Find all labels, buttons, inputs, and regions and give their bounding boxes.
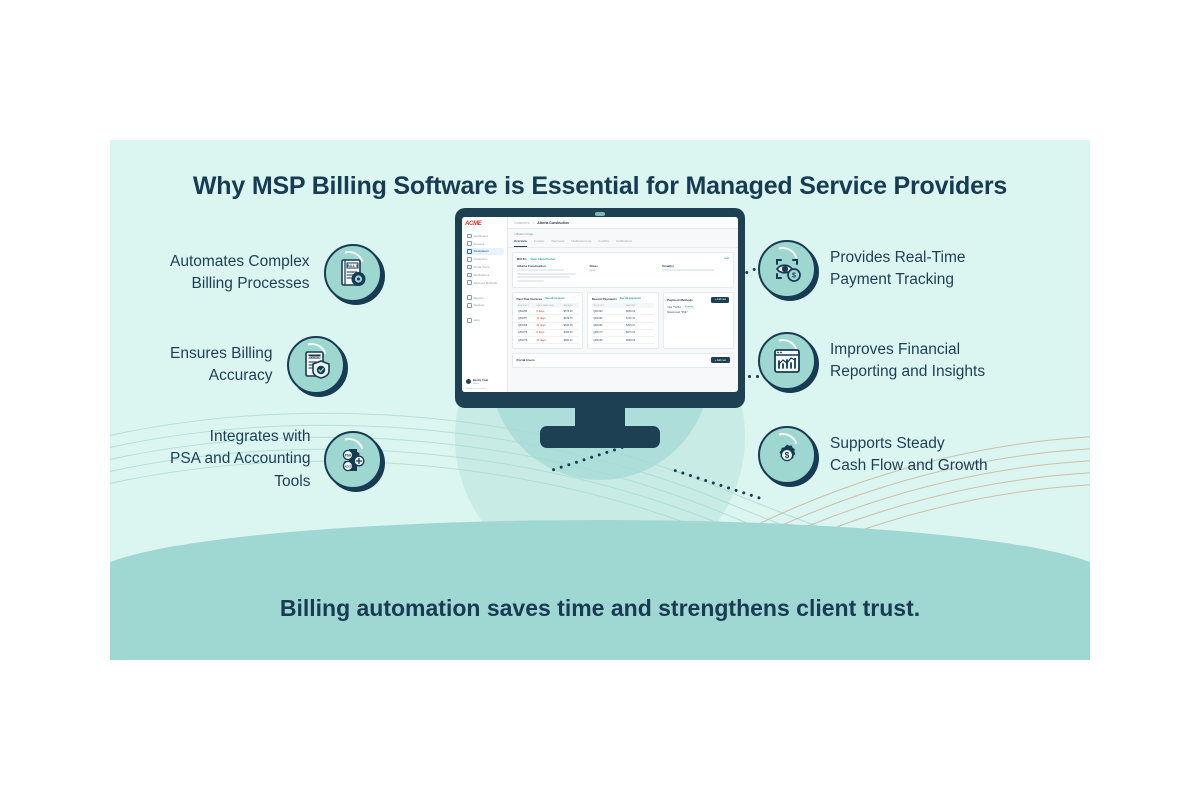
svg-text:ACCT: ACCT bbox=[345, 464, 353, 468]
past-due-table: INVOICE # DAYS PAST DUE AMOUNT QB10956 d… bbox=[517, 303, 579, 344]
sidebar-item-label: Help bbox=[474, 318, 480, 322]
svg-text:PSA: PSA bbox=[345, 453, 352, 457]
sidebar-item-label: Reports bbox=[474, 296, 484, 300]
cell-invoice: QB1082 bbox=[592, 315, 625, 322]
svg-text:INVOICE: INVOICE bbox=[308, 355, 320, 359]
billto-header: Bill To: View Client Portal Edit bbox=[517, 257, 729, 261]
sidebar-spacer bbox=[465, 309, 504, 316]
cell-amount: $345.67 bbox=[625, 322, 655, 329]
customers-icon bbox=[467, 249, 472, 254]
feature-integrates-psa-accounting[interactable]: Integrates with PSA and Accounting Tools… bbox=[170, 426, 382, 493]
table-row[interactable]: QB106822 days$540.15 bbox=[517, 322, 579, 329]
acme-logo: ACME bbox=[465, 221, 504, 227]
cell-days: 17 days bbox=[535, 336, 562, 343]
payment-method-row[interactable]: Visa **2234 Primary bbox=[667, 306, 729, 309]
cell-invoice: QB1079 bbox=[517, 329, 536, 336]
sidebar-nav: Dashboard Invoices Customers Customers P… bbox=[465, 232, 504, 324]
cell-days: 14 days bbox=[535, 315, 562, 322]
avatar bbox=[466, 379, 471, 384]
feature-financial-reporting-insights[interactable]: Improves Financial Reporting and Insight… bbox=[758, 332, 985, 390]
add-payment-method-button[interactable]: + Add new bbox=[711, 297, 729, 303]
tab-overview[interactable]: Overview bbox=[514, 239, 527, 247]
cell-invoice: QB1093 bbox=[592, 308, 625, 315]
page-title: Why MSP Billing Software is Essential fo… bbox=[110, 172, 1090, 201]
feature-steady-cash-flow-growth[interactable]: $ Supports Steady Cash Flow and Growth bbox=[758, 426, 988, 484]
svg-text:BILL $: BILL $ bbox=[347, 264, 358, 268]
see-all-invoices-link[interactable]: See all invoices bbox=[545, 297, 564, 300]
table-row[interactable]: QB1082$730.40 bbox=[592, 315, 654, 322]
cell-amount: $395.60 bbox=[562, 329, 579, 336]
billto-columns: Alberta Construction Notes None bbox=[517, 264, 729, 284]
cell-amount: $860.12 bbox=[562, 336, 579, 343]
feature-automates-complex-billing[interactable]: Automates Complex Billing Processes BILL… bbox=[170, 244, 382, 302]
cell-invoice: QB1086 bbox=[592, 322, 625, 329]
app-sidebar: ACME Dashboard Invoices Customers Custom… bbox=[462, 217, 508, 392]
feature-label: Provides Real-Time Payment Tracking bbox=[830, 247, 966, 292]
feature-label: Improves Financial Reporting and Insight… bbox=[830, 339, 985, 384]
notes-value: None bbox=[590, 269, 657, 272]
table-row[interactable]: QB1093$650.00 bbox=[592, 308, 654, 315]
recent-payments-panel: Recent Payments See all payments INVOICE… bbox=[587, 292, 658, 348]
address-placeholder bbox=[517, 276, 570, 278]
cell-amount: $578.00 bbox=[562, 308, 579, 315]
monitor-base bbox=[540, 426, 660, 448]
card-label: Visa **2234 bbox=[667, 306, 681, 309]
tagline: Billing automation saves time and streng… bbox=[110, 595, 1090, 622]
table-row[interactable]: QB1065$548.00 bbox=[592, 336, 654, 343]
portal-users-title: Portal Users bbox=[517, 358, 535, 362]
sidebar-item-reports[interactable]: Reports bbox=[465, 294, 504, 302]
feature-label: Integrates with PSA and Accounting Tools bbox=[170, 426, 310, 493]
invoice-shield-check-icon: INVOICE bbox=[287, 336, 345, 394]
sidebar-item-label: Portal Users bbox=[474, 265, 490, 269]
sidebar-item-label: Customers bbox=[474, 249, 489, 253]
sidebar-item-label: Payment Methods bbox=[474, 281, 497, 285]
help-icon bbox=[467, 318, 472, 323]
cell-days: 6 days bbox=[535, 308, 562, 315]
sidebar-spacer bbox=[465, 286, 504, 293]
sidebar-item-label: Invoices bbox=[474, 242, 485, 246]
sidebar-item-customers-group[interactable]: Customers bbox=[465, 248, 504, 256]
sidebar-user[interactable]: Becky Club admin bbox=[466, 378, 488, 385]
sidebar-item-invoices[interactable]: Invoices bbox=[465, 240, 504, 248]
tab-payments[interactable]: Payments bbox=[551, 239, 564, 247]
edit-button[interactable]: Edit bbox=[724, 257, 729, 260]
address-placeholder bbox=[517, 280, 544, 282]
feature-label: Supports Steady Cash Flow and Growth bbox=[830, 433, 988, 478]
table-row[interactable]: QB105714 days$439.75 bbox=[517, 315, 579, 322]
table-row[interactable]: QB10956 days$578.00 bbox=[517, 308, 579, 315]
panel-title: Past Due Invoices bbox=[517, 297, 543, 301]
view-client-portal-link[interactable]: View Client Portal bbox=[530, 257, 554, 261]
billto-card: Bill To: View Client Portal Edit Alberta… bbox=[512, 252, 734, 289]
bottom-banner-shape bbox=[110, 520, 1090, 660]
panel-row: Past Due Invoices See all invoices INVOI… bbox=[512, 292, 734, 348]
cell-invoice: QB1057 bbox=[517, 315, 536, 322]
feature-ensures-billing-accuracy[interactable]: Ensures Billing Accuracy INVOICE bbox=[170, 336, 345, 394]
cell-days: 8 days bbox=[535, 329, 562, 336]
billto-emails-col: Email(s) bbox=[662, 264, 729, 284]
reports-icon bbox=[467, 295, 472, 300]
cell-days: 22 days bbox=[535, 322, 562, 329]
sidebar-item-dashboard[interactable]: Dashboard bbox=[465, 232, 504, 240]
sidebar-item-payment-methods[interactable]: Payment Methods bbox=[465, 279, 504, 287]
billto-notes-col: Notes None bbox=[590, 264, 657, 284]
tab-bar: Overview Invoices Payments Notification … bbox=[508, 236, 738, 248]
cell-amount: $548.00 bbox=[625, 336, 655, 343]
billto-heading: Bill To: bbox=[517, 257, 527, 261]
bill-document-gear-icon: BILL $ bbox=[324, 244, 382, 302]
payment-method-row[interactable]: Mastercard *4567 bbox=[667, 311, 729, 314]
user-role: admin bbox=[473, 383, 479, 385]
table-row[interactable]: QB1086$345.67 bbox=[592, 322, 654, 329]
tab-notifications[interactable]: Notifications bbox=[616, 239, 632, 247]
infographic-canvas: Why MSP Billing Software is Essential fo… bbox=[110, 140, 1090, 660]
panel-header: Recent Payments See all payments bbox=[592, 297, 654, 301]
sidebar-item-help[interactable]: Help bbox=[465, 316, 504, 324]
svg-text:$: $ bbox=[792, 272, 796, 279]
add-portal-user-button[interactable]: + Add new bbox=[711, 357, 729, 363]
payment-methods-panel: Payment Methods + Add new Visa **2234 Pr… bbox=[663, 292, 734, 348]
breadcrumb-current: Alberta Construction bbox=[537, 221, 569, 225]
users-icon bbox=[467, 265, 472, 270]
address-placeholder bbox=[517, 269, 564, 271]
user-name: Becky Club bbox=[473, 378, 488, 382]
sidebar-item-label: Dashboard bbox=[474, 234, 488, 238]
sidebar-item-notifications[interactable]: Notifications bbox=[465, 271, 504, 279]
sidebar-item-settings[interactable]: Settings bbox=[465, 301, 504, 309]
cell-amount: $650.00 bbox=[625, 308, 655, 315]
eye-scan-coin-icon: $ bbox=[758, 240, 816, 298]
breadcrumb-parent[interactable]: Customers bbox=[514, 221, 529, 225]
billto-company-col: Alberta Construction bbox=[517, 264, 584, 284]
company-name: Alberta Construction bbox=[517, 264, 584, 268]
tab-autopay[interactable]: AutoPay bbox=[598, 239, 609, 247]
sidebar-footer: Powered by Fusebill bbox=[466, 388, 486, 390]
feature-label: Ensures Billing Accuracy bbox=[170, 343, 273, 388]
panel-title: Recent Payments bbox=[592, 297, 617, 301]
app-body: Bill To: View Client Portal Edit Alberta… bbox=[508, 248, 738, 393]
table-row[interactable]: QB1073$675.00 bbox=[592, 329, 654, 336]
sidebar-item-label: Customers bbox=[474, 257, 488, 261]
webcam-icon bbox=[595, 212, 605, 216]
monitor-bezel: ACME Dashboard Invoices Customers Custom… bbox=[455, 208, 745, 408]
app-screen: ACME Dashboard Invoices Customers Custom… bbox=[462, 217, 738, 392]
cell-invoice: QB1065 bbox=[592, 336, 625, 343]
cell-invoice: QB1068 bbox=[517, 322, 536, 329]
breadcrumb-separator: > bbox=[532, 221, 534, 225]
chart-report-window-icon bbox=[758, 332, 816, 390]
cell-amount: $439.75 bbox=[562, 315, 579, 322]
primary-badge: Primary bbox=[683, 306, 695, 309]
portal-users-section: Portal Users + Add new bbox=[512, 353, 734, 368]
sidebar-item-customers[interactable]: Customers bbox=[465, 255, 504, 263]
notes-label: Notes bbox=[590, 264, 657, 268]
tab-notification-log[interactable]: Notification Log bbox=[571, 239, 591, 247]
panel-title: Payment Methods bbox=[667, 298, 693, 302]
email-placeholder bbox=[662, 269, 714, 271]
cell-amount: $540.15 bbox=[562, 322, 579, 329]
tab-invoices[interactable]: Invoices bbox=[534, 239, 545, 247]
address-placeholder bbox=[517, 273, 576, 275]
sidebar-item-portal-users[interactable]: Portal Users bbox=[465, 263, 504, 271]
table-row[interactable]: QB107617 days$860.12 bbox=[517, 336, 579, 343]
person-icon bbox=[467, 257, 472, 262]
cell-amount: $675.00 bbox=[625, 329, 655, 336]
cell-invoice: QB1076 bbox=[517, 336, 536, 343]
emails-label: Email(s) bbox=[662, 264, 729, 268]
dashboard-icon bbox=[467, 234, 472, 239]
breadcrumb: Customers > Alberta Construction bbox=[508, 217, 738, 229]
past-due-invoices-panel: Past Due Invoices See all invoices INVOI… bbox=[512, 292, 583, 348]
table-row[interactable]: QB10798 days$395.60 bbox=[517, 329, 579, 336]
panel-header: Past Due Invoices See all invoices bbox=[517, 297, 579, 301]
feature-realtime-payment-tracking[interactable]: $ Provides Real-Time Payment Tracking bbox=[758, 240, 966, 298]
panel-header: Payment Methods + Add new bbox=[667, 297, 729, 303]
feature-label: Automates Complex Billing Processes bbox=[170, 251, 310, 296]
svg-text:$: $ bbox=[785, 451, 790, 460]
sidebar-item-label: Notifications bbox=[474, 273, 490, 277]
bell-icon bbox=[467, 273, 472, 278]
back-link[interactable]: < Back to Page bbox=[508, 229, 738, 236]
recent-payments-table: INVOICE # AMOUNT QB1093$650.00 QB1082$73… bbox=[592, 303, 654, 344]
cell-amount: $730.40 bbox=[625, 315, 655, 322]
see-all-payments-link[interactable]: See all payments bbox=[620, 297, 641, 300]
invoice-icon bbox=[467, 241, 472, 246]
app-main: Customers > Alberta Construction < Back … bbox=[508, 217, 738, 392]
sidebar-item-label: Settings bbox=[474, 303, 484, 307]
integration-puzzle-gears-icon: PSA ACCT bbox=[324, 431, 382, 489]
cell-invoice: QB1095 bbox=[517, 308, 536, 315]
gear-icon bbox=[467, 303, 472, 308]
card-icon bbox=[467, 280, 472, 285]
card-label: Mastercard *4567 bbox=[667, 311, 687, 314]
cell-invoice: QB1073 bbox=[592, 329, 625, 336]
cash-flow-gear-cycle-icon: $ bbox=[758, 426, 816, 484]
